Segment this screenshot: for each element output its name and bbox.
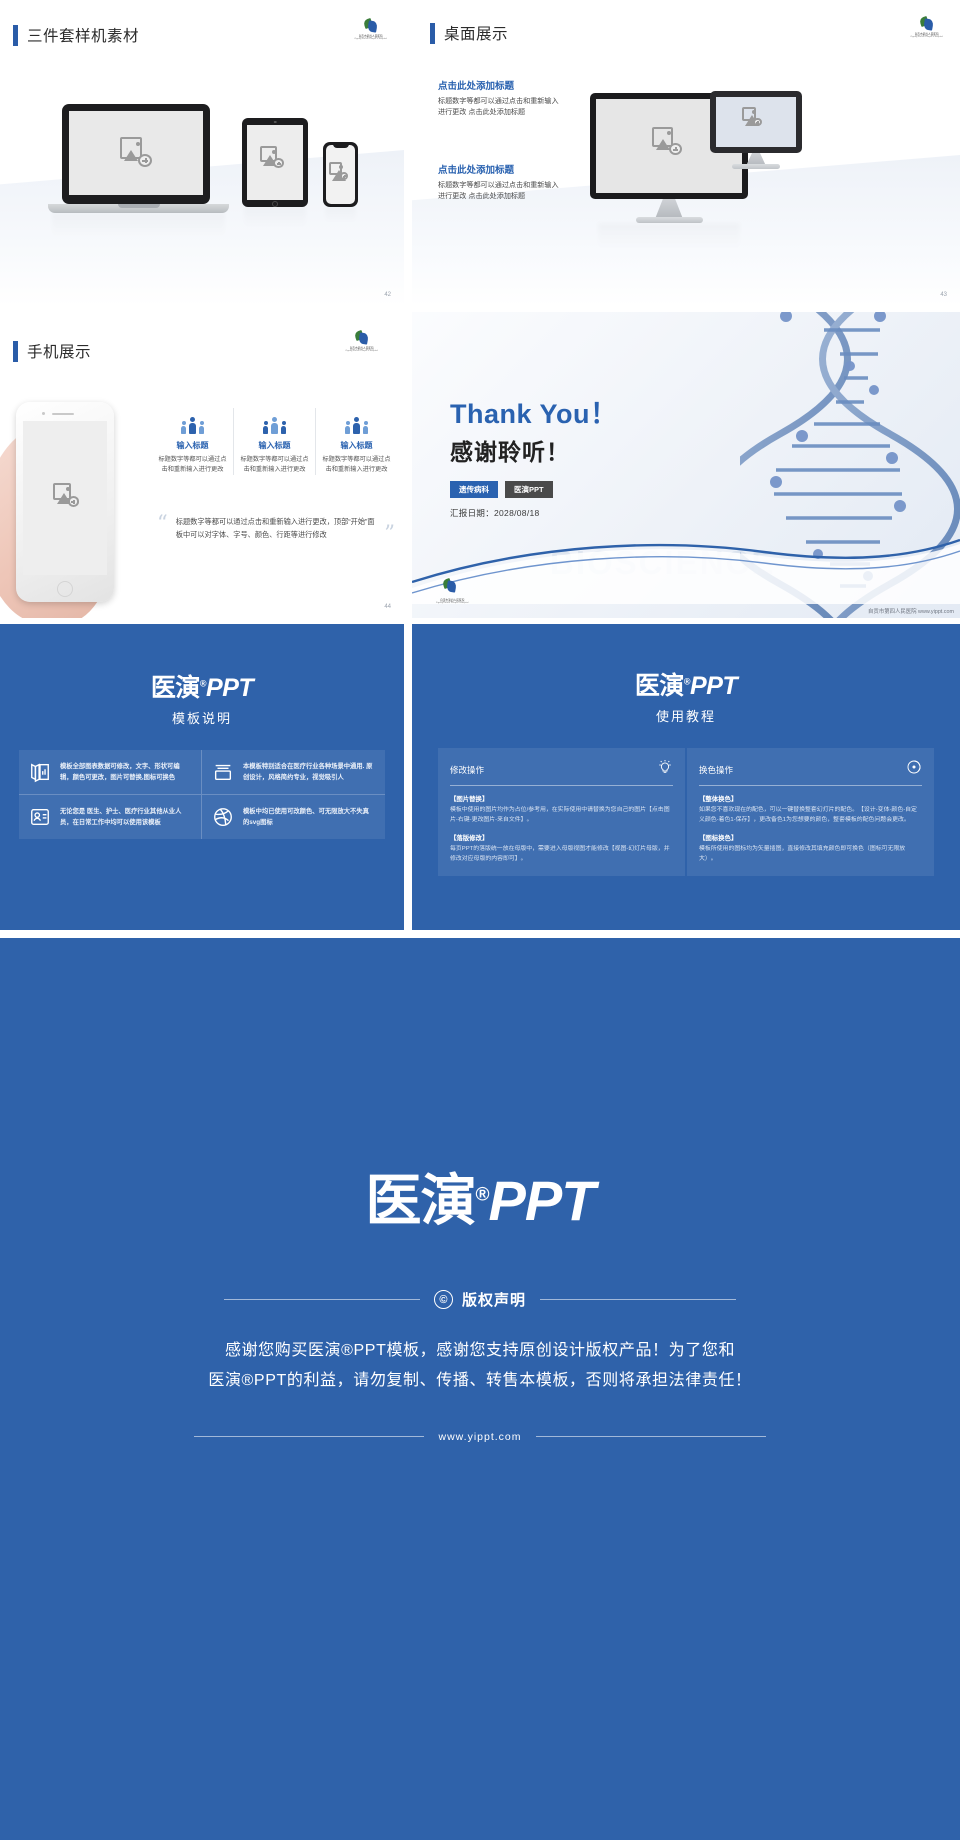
feature-column-2[interactable]: 输入标题 标题数字等都可以通过点击和重新输入进行更改: [233, 408, 315, 475]
tutorial-section: 【图片替换】 模板中使用的图片均作为占位/参考用，在实际使用中请替换为您自己的图…: [450, 794, 673, 825]
brand-name: 医演: [635, 672, 684, 700]
brand-ppt: PPT: [489, 1169, 595, 1232]
quote-close-icon: ”: [384, 525, 395, 542]
hospital-logo-line2: Zigong Fourth People's Hospital: [345, 350, 378, 352]
copyright-line-1: 感谢您购买医演®PPT模板，感谢您支持原创设计版权产品！为了您和: [0, 1336, 960, 1366]
slide-title-text: 三件套样机素材: [27, 24, 139, 46]
dribbble-icon: [212, 806, 234, 828]
feature-desc: 标题数字等都可以通过点击和重新输入进行更改: [322, 455, 391, 475]
brand-ppt: PPT: [690, 672, 737, 700]
phone-device: [323, 142, 358, 207]
report-date: 汇报日期：2028/08/18: [450, 507, 618, 519]
thank-you-content: Thank You！ 感谢聆听！ 遗传病科 医演PPT 汇报日期：2028/08…: [450, 392, 618, 519]
copyright-statement: 感谢您购买医演®PPT模板，感谢您支持原创设计版权产品！为了您和 医演®PPT的…: [0, 1336, 960, 1397]
image-placeholder-icon: [260, 146, 284, 168]
copyright-badge-row: © 版权声明: [0, 1289, 960, 1310]
laptop-device: [62, 104, 210, 204]
hospital-logo: 自贡市第四人民医院 Zigong Fourth People's Hospita…: [436, 578, 469, 604]
feature-column-1[interactable]: 输入标题 标题数字等都可以通过点击和重新输入进行更改: [152, 408, 233, 475]
brand-registered-mark: ®: [476, 1184, 489, 1205]
slide-thank-you[interactable]: BIOSCIENCE Thank You！ 感谢聆听！ 遗传病科 医演PPT 汇…: [412, 312, 960, 618]
info-card-text: 模板全部图表数据可修改，文字、形状可编辑，颜色可更改，图片可替换,图标可换色: [60, 761, 191, 783]
hospital-logo-mark: [363, 18, 379, 33]
website-row: www.yippt.com: [0, 1431, 960, 1443]
divider-right: [536, 1436, 766, 1437]
tutorial-card-edit[interactable]: 修改操作 【图片替换】 模板中使用的图片均作为占位/参考用，在实际使用中请替换为…: [438, 748, 685, 876]
phone-home-button: [57, 581, 73, 597]
hospital-logo: 自贡市第四人民医院 Zigong Fourth People's Hospita…: [345, 330, 378, 352]
phone-camera: [42, 412, 45, 415]
slide-mobile-display[interactable]: 手机展示 自贡市第四人民医院 Zigong Fourth People's Ho…: [0, 312, 404, 618]
feature-desc: 标题数字等都可以通过点击和重新输入进行更改: [240, 455, 309, 475]
monitor-foot: [732, 164, 780, 169]
hospital-logo: 自贡市第四人民医院 Zigong Fourth People's Hospita…: [910, 16, 943, 38]
info-card[interactable]: 模板中均已使用可改颜色、可无限放大不失真的svg图标: [202, 794, 385, 839]
slide-title-desktop: 桌面展示: [430, 22, 508, 44]
slide-footer-credit: 自贡市第四人民医院 www.yippt.com: [868, 607, 954, 615]
block-body: 标题数字等都可以通过点击和重新输入进行更改 点击此处添加标题: [438, 96, 560, 119]
quote-text: 标题数字等都可以通过点击和重新输入进行更改，顶部“开始”面板中可以对字体、字号、…: [176, 515, 377, 542]
copyright-icon: ©: [434, 1290, 453, 1309]
divider-left: [224, 1299, 420, 1300]
brand-name: 医演: [366, 1169, 476, 1232]
tutorial-section: 【整体换色】 如果您不喜欢现在的配色，可以一键替换整套幻灯片的配色。【设计-变体…: [699, 794, 922, 825]
presentation-thumbnail-sheet: 三件套样机素材 自贡市第四人民医院 Zigong Fourth People's…: [0, 0, 960, 1840]
slide-title-mobile: 手机展示: [13, 340, 91, 362]
tutorial-card-recolor[interactable]: 换色操作 【整体换色】 如果您不喜欢现在的配色，可以一键替换整套幻灯片的配色。【…: [687, 748, 934, 876]
image-placeholder-icon: [329, 162, 348, 180]
quote-open-icon: “: [157, 515, 168, 532]
slide-title-mockup: 三件套样机素材: [13, 24, 139, 46]
tutorial-section-body: 如果您不喜欢现在的配色，可以一键替换整套幻灯片的配色。【设计-变体-颜色-自定义…: [699, 805, 922, 825]
hospital-logo-mark: [354, 330, 370, 345]
phone-notch: [333, 144, 349, 148]
divider-right: [540, 1299, 736, 1300]
hand-holding-phone-photo: [0, 380, 158, 618]
title-accent-bar: [430, 23, 435, 44]
desktop-text-block-1: 点击此处添加标题 标题数字等都可以通过点击和重新输入进行更改 点击此处添加标题: [438, 78, 560, 119]
tutorial-section-body: 模板中使用的图片均作为占位/参考用，在实际使用中请替换为您自己的图片【点击图片-…: [450, 805, 673, 825]
hospital-logo: 自贡市第四人民医院 Zigong Fourth People's Hospita…: [354, 18, 387, 40]
hospital-logo-line2: Zigong Fourth People's Hospital: [910, 36, 943, 38]
slide-separator: [0, 930, 960, 938]
tablet-device: [242, 118, 308, 207]
tutorial-section-body: 模板所使用的图标均为矢量插图，直接修改其填充颜色即可换色（图标可无限放大）。: [699, 844, 922, 864]
tablet-camera: [274, 121, 277, 124]
divider-left: [194, 1436, 424, 1437]
tutorial-section: 【图标换色】 模板所使用的图标均为矢量插图，直接修改其填充颜色即可换色（图标可无…: [699, 833, 922, 864]
block-heading: 点击此处添加标题: [438, 78, 560, 92]
tutorial-section-title: 【落版修改】: [450, 833, 673, 842]
tutorial-section-title: 【整体换色】: [699, 794, 922, 803]
page-number: 42: [384, 292, 391, 298]
info-card-grid: 模板全部图表数据可修改，文字、形状可编辑，颜色可更改，图片可替换,图标可换色 本…: [19, 750, 385, 839]
website-link[interactable]: www.yippt.com: [438, 1431, 521, 1443]
page-number: 43: [940, 292, 947, 298]
tablet-reflection: [244, 207, 306, 229]
brand-wordmark: 医演®PPT: [0, 1156, 960, 1237]
feature-column-3[interactable]: 输入标题 标题数字等都可以通过点击和重新输入进行更改: [315, 408, 397, 475]
laptop-reflection: [52, 213, 225, 239]
lightbulb-icon: [657, 759, 673, 780]
user-id-icon: [29, 806, 51, 828]
copyright-line-2: 医演®PPT的利益，请勿复制、传播、转售本模板，否则将承担法律责任！: [0, 1366, 960, 1396]
info-card-text: 无论您是 医生、护士、医疗行业其他从业人员，在日常工作中均可以使用该模板: [60, 806, 191, 828]
tag-row: 遗传病科 医演PPT: [450, 481, 618, 498]
chart-book-icon: [29, 761, 51, 783]
copyright-label: 版权声明: [462, 1289, 526, 1310]
phone-screen: [23, 421, 107, 575]
tutorial-card-title: 换色操作: [699, 764, 733, 776]
tutorial-card-header: 修改操作: [450, 759, 673, 786]
slide-tutorial[interactable]: 医演®PPT 使用教程 修改操作 【图片替换】 模板中使用的图片均作: [412, 624, 960, 930]
quote-block: “ 标题数字等都可以通过点击和重新输入进行更改，顶部“开始”面板中可以对字体、字…: [157, 515, 395, 542]
laptop-trackpad-notch: [118, 204, 160, 208]
thank-you-chinese: 感谢聆听！: [450, 433, 618, 467]
title-accent-bar: [13, 341, 18, 362]
tutorial-card-title: 修改操作: [450, 764, 484, 776]
copyright-badge: © 版权声明: [434, 1289, 526, 1310]
block-body: 标题数字等都可以通过点击和重新输入进行更改 点击此处添加标题: [438, 180, 560, 203]
slide-title-text: 桌面展示: [444, 22, 508, 44]
slide-copyright[interactable]: 医演®PPT © 版权声明 感谢您购买医演®PPT模板，感谢您支持原创设计版权产…: [0, 938, 960, 1840]
slide-title-text: 手机展示: [27, 340, 91, 362]
info-card[interactable]: 无论您是 医生、护士、医疗行业其他从业人员，在日常工作中均可以使用该模板: [19, 794, 202, 839]
people-three-icon: [322, 408, 391, 434]
layers-icon: [212, 761, 234, 783]
tag-brand[interactable]: 医演PPT: [505, 481, 553, 498]
phone-reflection: [325, 207, 356, 224]
tutorial-card-header: 换色操作: [699, 759, 922, 786]
title-accent-bar: [13, 25, 18, 46]
brand-logo-block: 医演®PPT 模板说明: [0, 668, 404, 727]
hospital-logo-mark: [442, 578, 463, 597]
hospital-logo-mark: [919, 16, 935, 31]
people-check-icon: [158, 408, 227, 434]
brand-wordmark: 医演®PPT: [0, 668, 404, 704]
tutorial-section-title: 【图片替换】: [450, 794, 673, 803]
page-number: 44: [384, 604, 391, 610]
brand-wordmark: 医演®PPT: [412, 666, 960, 702]
tutorial-section: 【落版修改】 每页PPT的落版统一放在母版中，需要进入母版视图才能修改【视图-幻…: [450, 833, 673, 864]
info-card[interactable]: 本模板特别适合在医疗行业各种场景中通用. 原创设计，风格简约专业，视觉吸引人: [202, 750, 385, 794]
tutorial-section-body: 每页PPT的落版统一放在母版中，需要进入母版视图才能修改【视图-幻灯片母版，并修…: [450, 844, 673, 864]
info-card-text: 模板中均已使用可改颜色、可无限放大不失真的svg图标: [243, 806, 375, 828]
monitor-reflection: [598, 223, 740, 251]
hospital-logo-line2: Zigong Fourth People's Hospital: [436, 602, 469, 604]
monitor-device-small: [710, 91, 802, 153]
tutorial-section-title: 【图标换色】: [699, 833, 922, 842]
tag-department[interactable]: 遗传病科: [450, 481, 498, 498]
feature-columns: 输入标题 标题数字等都可以通过点击和重新输入进行更改 输入标题 标题数字等都可以…: [152, 408, 397, 475]
tutorial-card-row: 修改操作 【图片替换】 模板中使用的图片均作为占位/参考用，在实际使用中请替换为…: [438, 748, 934, 876]
monitor-screen: [716, 97, 796, 147]
feature-title: 输入标题: [158, 440, 227, 451]
feature-title: 输入标题: [322, 440, 391, 451]
thank-you-english: Thank You！: [450, 392, 618, 431]
feature-desc: 标题数字等都可以通过点击和重新输入进行更改: [158, 455, 227, 475]
brand-name: 医演: [151, 674, 200, 702]
image-placeholder-icon: [53, 483, 79, 507]
slide-mockup-devices[interactable]: 三件套样机素材 自贡市第四人民医院 Zigong Fourth People's…: [0, 0, 404, 306]
info-card[interactable]: 模板全部图表数据可修改，文字、形状可编辑，颜色可更改，图片可替换,图标可换色: [19, 750, 202, 794]
brand-ppt: PPT: [206, 674, 253, 702]
tablet-home-button: [272, 201, 278, 207]
brand-subtitle: 模板说明: [0, 708, 404, 727]
image-placeholder-icon: [742, 107, 762, 126]
phone-screen: [326, 145, 355, 204]
brand-logo-block: 医演®PPT 使用教程: [412, 666, 960, 725]
people-group-icon: [240, 408, 309, 434]
block-heading: 点击此处添加标题: [438, 162, 560, 176]
brand-subtitle: 使用教程: [412, 706, 960, 725]
slide-template-info[interactable]: 医演®PPT 模板说明 模板全部图表数据可修改，文字、形状可编辑，颜色可更改，图…: [0, 624, 404, 930]
brand-logo-block-large: 医演®PPT: [0, 938, 960, 1237]
image-placeholder-icon: [652, 127, 682, 155]
tablet-screen: [247, 125, 303, 200]
desktop-text-block-2: 点击此处添加标题 标题数字等都可以通过点击和重新输入进行更改 点击此处添加标题: [438, 162, 560, 203]
bottom-wave-decoration: [412, 530, 960, 604]
hospital-logo-line2: Zigong Fourth People's Hospital: [354, 38, 387, 40]
image-placeholder-icon: [120, 137, 152, 167]
palette-icon: [906, 759, 922, 780]
phone-device-held: [16, 402, 114, 602]
laptop-screen: [69, 111, 203, 195]
slide-desktop-display[interactable]: 桌面展示 自贡市第四人民医院 Zigong Fourth People's Ho…: [412, 0, 960, 306]
info-card-text: 本模板特别适合在医疗行业各种场景中通用. 原创设计，风格简约专业，视觉吸引人: [243, 761, 375, 783]
phone-speaker: [52, 413, 74, 415]
feature-title: 输入标题: [240, 440, 309, 451]
